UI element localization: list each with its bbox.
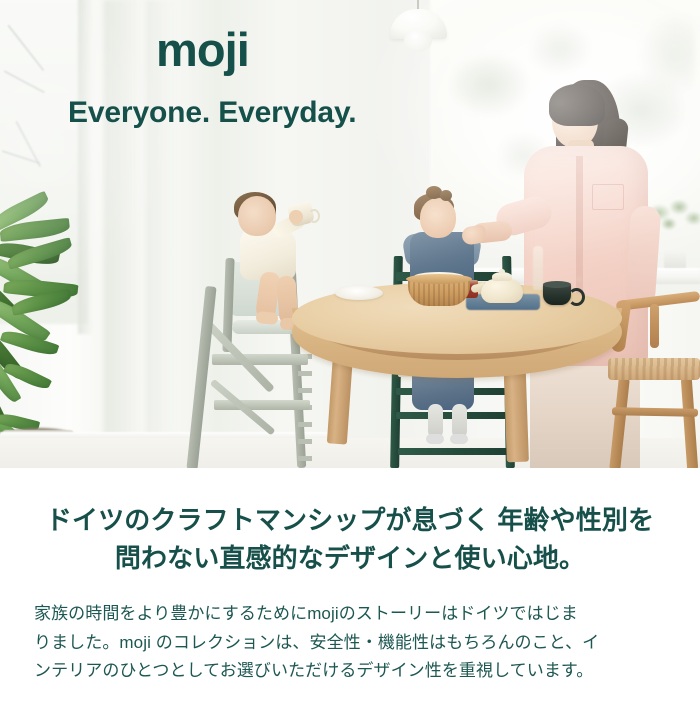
potted-plant: [0, 215, 124, 465]
glass-bottle: [533, 246, 543, 290]
wishbone-chair-stretcher: [612, 407, 698, 416]
brand-logo: moji: [156, 26, 249, 73]
page-root: moji Everyone. Everyday. ドイツのクラフトマンシップが息…: [0, 0, 700, 724]
pendant-lamp-diffuser: [404, 30, 432, 52]
mother-hair-front: [549, 84, 605, 126]
section-body-copy: 家族の時間をより豊かにするためにmojiのストーリーはドイツではじま りました。…: [34, 600, 668, 686]
girl-foot: [450, 434, 468, 444]
high-chair-seat: [212, 354, 308, 365]
plate: [335, 286, 383, 300]
basket-rim: [406, 274, 472, 284]
content-section: ドイツのクラフトマンシップが息づく 年齢や性別を 問わない直感的なデザインと使い…: [0, 468, 700, 724]
girl-head: [420, 198, 456, 238]
teapot: [481, 279, 523, 303]
wishbone-chair-y-splat: [650, 304, 659, 348]
girl-foot: [426, 434, 444, 444]
body-line-3: ンテリアのひとつとしてお選びいただけるデザイン性を重視しています。: [34, 657, 668, 686]
baby-cup-handle: [308, 209, 320, 223]
hero-photo: moji Everyone. Everyday.: [0, 0, 700, 468]
mother-shirt-button: [576, 240, 582, 246]
brand-tagline: Everyone. Everyday.: [68, 98, 356, 128]
teapot-knob: [499, 269, 505, 274]
girl-sock: [452, 404, 467, 438]
girl-hair-bun: [440, 190, 452, 201]
girl-sock: [428, 404, 443, 438]
mother-shirt-pocket: [592, 184, 624, 210]
body-line-1: 家族の時間をより豊かにするためにmojiのストーリーはドイツではじま: [34, 600, 668, 629]
mug-rim: [543, 281, 571, 288]
wishbone-chair-seat: [608, 358, 700, 380]
headline-line-1: ドイツのクラフトマンシップが息づく 年齢や性別を: [0, 502, 700, 540]
mother-shirt-button: [576, 276, 582, 282]
mother-shirt-button: [576, 206, 582, 212]
high-chair-rail: [398, 448, 508, 455]
section-headline: ドイツのクラフトマンシップが息づく 年齢や性別を 問わない直感的なデザインと使い…: [0, 502, 700, 578]
headline-line-2: 問わない直感的なデザインと使い心地。: [0, 540, 700, 578]
high-chair-footrest: [214, 400, 310, 410]
body-line-2: りました。moji のコレクションは、安全性・機能性はもちろんのこと、イ: [34, 629, 668, 658]
baby-foot: [255, 311, 278, 325]
baby-hand: [289, 210, 303, 224]
mother-shirt-button: [576, 172, 582, 178]
baby-head: [238, 196, 276, 236]
